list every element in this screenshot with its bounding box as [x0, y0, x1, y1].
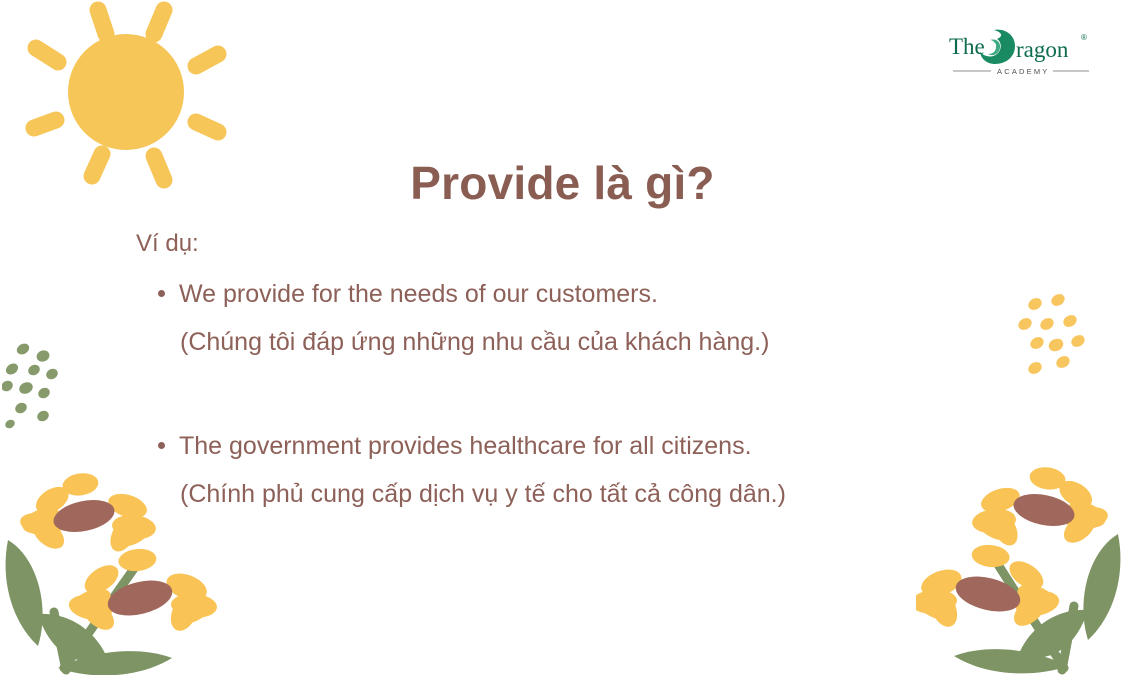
- yellow-dots-decoration: [1008, 288, 1096, 388]
- example-item-1: We provide for the needs of our customer…: [136, 278, 996, 360]
- example-item-2: The government provides healthcare for a…: [136, 430, 996, 512]
- the-dragon-academy-logo: The ragon ® ACADEMY: [947, 24, 1097, 80]
- svg-text:ACADEMY: ACADEMY: [997, 67, 1050, 76]
- green-dots-decoration: [2, 336, 76, 434]
- example-english-2: The government provides healthcare for a…: [179, 430, 752, 464]
- svg-text:The: The: [949, 34, 985, 59]
- page-title: Provide là gì?: [0, 157, 1125, 210]
- svg-text:®: ®: [1081, 33, 1087, 42]
- examples-label: Ví dụ:: [136, 228, 996, 260]
- example-english-1: We provide for the needs of our customer…: [179, 278, 658, 312]
- dragon-icon: [980, 30, 1015, 64]
- slide-canvas: The ragon ® ACADEMY Provide là gì? Ví dụ…: [0, 0, 1125, 675]
- bullet-dot-icon: [158, 442, 165, 449]
- bullet-row: The government provides healthcare for a…: [158, 430, 996, 464]
- example-vietnamese-1: (Chúng tôi đáp ứng những nhu cầu của khá…: [180, 326, 996, 360]
- bullet-dot-icon: [158, 290, 165, 297]
- bullet-row: We provide for the needs of our customer…: [158, 278, 996, 312]
- svg-text:ragon: ragon: [1016, 37, 1069, 62]
- content-body: Ví dụ: We provide for the needs of our c…: [136, 228, 996, 511]
- example-vietnamese-2: (Chính phủ cung cấp dịch vụ y tế cho tất…: [180, 478, 996, 512]
